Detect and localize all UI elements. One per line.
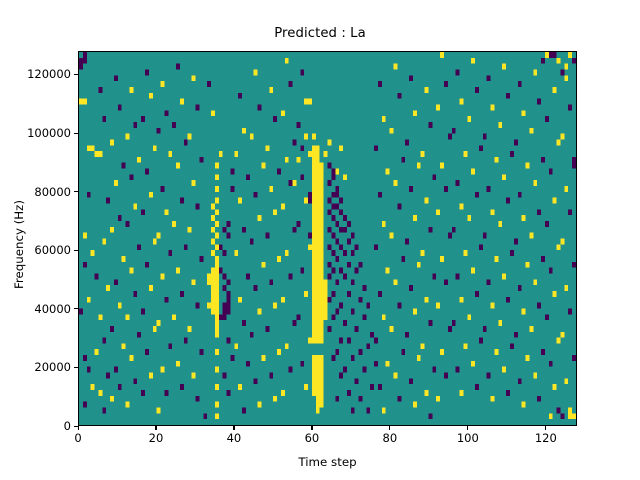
- y-tick-label: 100000: [0, 126, 71, 140]
- y-tick-label: 40000: [0, 302, 71, 316]
- y-tick-label: 20000: [0, 360, 71, 374]
- x-tick-mark: [311, 426, 312, 430]
- x-tick-mark: [389, 426, 390, 430]
- x-tick-label: 100: [457, 431, 479, 445]
- heatmap-plot-area: [78, 51, 577, 426]
- x-tick-label: 60: [305, 431, 320, 445]
- page-title: Predicted : La: [0, 26, 640, 41]
- x-tick-mark: [233, 426, 234, 430]
- x-tick-label: 80: [383, 431, 398, 445]
- x-tick-mark: [545, 426, 546, 430]
- y-tick-label: 60000: [0, 243, 71, 257]
- x-tick-label: 0: [74, 431, 81, 445]
- x-axis-label: Time step: [78, 455, 577, 469]
- y-tick-label: 0: [0, 419, 71, 433]
- y-tick-label: 80000: [0, 185, 71, 199]
- heatmap-image: [79, 52, 576, 425]
- x-tick-label: 40: [227, 431, 242, 445]
- x-tick-label: 120: [535, 431, 557, 445]
- x-tick-mark: [78, 426, 79, 430]
- x-tick-mark: [155, 426, 156, 430]
- y-tick-label: 120000: [0, 67, 71, 81]
- matplotlib-figure: Predicted : La Frequency (Hz) 0200004000…: [0, 0, 640, 480]
- x-tick-mark: [467, 426, 468, 430]
- x-tick-label: 20: [149, 431, 164, 445]
